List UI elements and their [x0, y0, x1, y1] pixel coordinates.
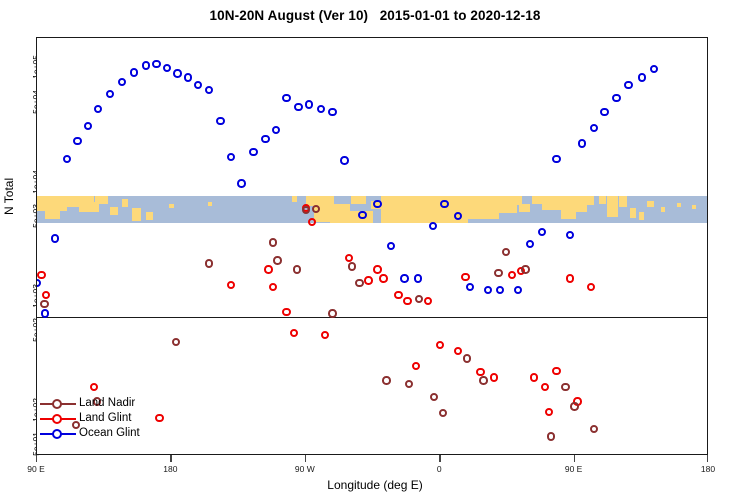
map-landmass [45, 207, 60, 219]
x-tick-mark [305, 455, 306, 462]
data-point-nadir [494, 269, 502, 277]
data-point-ocean [526, 240, 534, 248]
data-point-ocean [94, 105, 102, 113]
map-landmass [519, 204, 530, 212]
data-point-ocean [638, 73, 646, 81]
data-point-ocean [261, 135, 269, 143]
data-point-ocean [41, 309, 49, 317]
map-landmass [692, 205, 696, 209]
map-landmass [132, 208, 141, 220]
legend-marker-ocean [40, 428, 76, 440]
data-point-glint [566, 274, 574, 282]
x-tick-mark [36, 455, 37, 462]
map-landmass [542, 196, 562, 210]
data-point-ocean [237, 179, 245, 187]
data-point-ocean [600, 108, 608, 116]
x-tick-label: 90 E [27, 464, 45, 474]
data-point-ocean [249, 148, 257, 156]
data-point-nadir [561, 383, 569, 391]
data-point-ocean [184, 73, 192, 81]
map-landmass [639, 212, 644, 220]
legend-marker-nadir [40, 398, 76, 410]
map-landmass [146, 212, 153, 220]
data-point-ocean [328, 108, 336, 116]
data-point-ocean [650, 65, 658, 73]
data-point-nadir [348, 262, 356, 270]
map-landmass [110, 207, 118, 215]
data-point-glint [476, 368, 484, 376]
data-point-ocean [51, 234, 59, 242]
data-point-ocean [272, 126, 280, 134]
map-landmass [599, 196, 606, 204]
legend-marker-glint [40, 413, 76, 425]
data-point-nadir [355, 279, 363, 287]
data-point-glint [394, 291, 402, 299]
data-point-nadir [502, 248, 510, 256]
data-point-ocean [466, 283, 474, 291]
map-landmass [95, 196, 108, 204]
map-landmass [351, 196, 366, 204]
y-tick-label: 5e+01 [0, 432, 34, 443]
y-tick-label: 1e+04 [0, 170, 34, 181]
data-point-ocean [130, 68, 138, 76]
data-point-glint [379, 274, 387, 282]
page-title: 10N-20N August (Ver 10) 2015-01-01 to 20… [0, 8, 750, 23]
legend-label: Land Glint [79, 411, 131, 426]
map-landmass [532, 196, 543, 204]
x-tick-label: 90 W [295, 464, 315, 474]
data-point-ocean [84, 122, 92, 130]
y-tick-label: 5e+04 [0, 90, 34, 101]
data-point-ocean [484, 286, 492, 294]
y-tick-label: 5e+02 [0, 318, 34, 329]
data-point-glint [424, 297, 432, 305]
y-tick-label: 1e+02 [0, 398, 34, 409]
legend-item-ocean[interactable]: Ocean Glint [40, 426, 140, 441]
legend: Land NadirLand GlintOcean Glint [40, 396, 140, 441]
map-landmass [122, 199, 128, 207]
chart-root: 10N-20N August (Ver 10) 2015-01-01 to 20… [0, 0, 750, 500]
data-point-ocean [566, 231, 574, 239]
data-point-nadir [430, 393, 438, 401]
data-point-glint [373, 265, 381, 273]
legend-item-glint[interactable]: Land Glint [40, 411, 140, 426]
data-point-ocean [282, 94, 290, 102]
data-point-nadir [172, 338, 180, 346]
data-point-ocean [358, 211, 366, 219]
data-point-nadir [590, 425, 598, 433]
data-point-glint [37, 271, 45, 279]
data-point-ocean [163, 64, 171, 72]
data-point-ocean [340, 156, 348, 164]
data-point-nadir [269, 238, 277, 246]
data-point-ocean [152, 60, 160, 68]
map-inset-band [37, 196, 707, 223]
data-point-glint [541, 383, 549, 391]
data-point-ocean [73, 137, 81, 145]
data-point-nadir [328, 309, 336, 317]
data-point-glint [508, 271, 516, 279]
x-tick-mark [707, 455, 708, 462]
data-point-nadir [547, 432, 555, 440]
data-point-glint [587, 283, 595, 291]
data-point-glint [227, 281, 235, 289]
y-tick-label: 1e+05 [0, 55, 34, 66]
data-point-nadir [439, 409, 447, 417]
data-point-glint [454, 347, 462, 355]
x-tick-label: 0 [437, 464, 442, 474]
data-point-glint [321, 331, 329, 339]
data-point-ocean [173, 69, 181, 77]
data-point-ocean [227, 153, 235, 161]
data-point-glint [308, 218, 316, 226]
data-point-ocean [36, 279, 41, 287]
data-point-glint [264, 265, 272, 273]
data-point-nadir [570, 402, 578, 410]
x-tick-mark [170, 455, 171, 462]
data-point-ocean [578, 139, 586, 147]
data-point-ocean [538, 228, 546, 236]
map-landmass [661, 207, 665, 212]
data-point-ocean [142, 61, 150, 69]
data-point-ocean [216, 117, 224, 125]
data-point-nadir [205, 259, 213, 267]
data-point-glint [345, 254, 353, 262]
legend-label: Land Nadir [79, 396, 135, 411]
data-point-ocean [612, 94, 620, 102]
data-point-nadir [415, 295, 423, 303]
map-landmass [630, 208, 636, 218]
data-point-ocean [118, 78, 126, 86]
data-point-glint [461, 273, 469, 281]
legend-item-nadir[interactable]: Land Nadir [40, 396, 140, 411]
data-point-ocean [194, 81, 202, 89]
data-point-glint [412, 362, 420, 370]
x-tick-label: 180 [163, 464, 177, 474]
x-tick-label: 180 [701, 464, 715, 474]
map-landmass [619, 196, 627, 207]
data-point-glint [269, 283, 277, 291]
data-point-ocean [400, 274, 408, 282]
x-axis-title: Longitude (deg E) [0, 478, 750, 492]
data-point-ocean [317, 105, 325, 113]
data-point-ocean [305, 100, 313, 108]
data-point-glint [282, 308, 290, 316]
data-point-ocean [414, 274, 422, 282]
data-point-glint [155, 414, 163, 422]
data-point-ocean [590, 124, 598, 132]
legend-label: Ocean Glint [79, 426, 140, 441]
map-landmass [585, 196, 594, 205]
data-point-ocean [205, 86, 213, 94]
data-point-nadir [521, 265, 529, 273]
map-landmass [208, 202, 212, 206]
data-point-ocean [496, 286, 504, 294]
data-point-nadir [382, 376, 390, 384]
map-landmass [677, 203, 682, 207]
data-point-nadir [405, 380, 413, 388]
data-point-glint [545, 408, 553, 416]
data-point-nadir [463, 354, 471, 362]
x-tick-label: 90 E [565, 464, 583, 474]
data-point-ocean [373, 200, 381, 208]
data-point-nadir [293, 265, 301, 273]
map-landmass [607, 196, 618, 217]
data-point-glint [490, 373, 498, 381]
map-landmass [468, 196, 498, 219]
data-point-ocean [106, 90, 114, 98]
data-point-ocean [387, 242, 395, 250]
data-point-glint [530, 373, 538, 381]
data-point-nadir [479, 376, 487, 384]
panel-divider [37, 317, 707, 318]
data-point-ocean [63, 155, 71, 163]
data-point-ocean [624, 81, 632, 89]
data-point-nadir [273, 256, 281, 264]
x-tick-mark [439, 455, 440, 462]
data-point-glint [42, 291, 50, 299]
data-point-glint [436, 341, 444, 349]
data-point-ocean [514, 286, 522, 294]
y-tick-label: 1e+03 [0, 284, 34, 295]
map-landmass [647, 201, 654, 207]
data-point-ocean [294, 103, 302, 111]
y-tick-label: 5e+03 [0, 204, 34, 215]
x-tick-mark [574, 455, 575, 462]
data-point-glint [552, 367, 560, 375]
data-point-glint [364, 276, 372, 284]
map-landmass [169, 204, 174, 208]
data-point-nadir [40, 300, 48, 308]
data-point-glint [290, 329, 298, 337]
data-point-glint [90, 383, 98, 391]
data-point-glint [403, 297, 411, 305]
data-point-ocean [429, 222, 437, 230]
data-point-nadir [302, 206, 310, 214]
plot-area [36, 37, 708, 455]
map-landmass [292, 196, 297, 202]
data-point-ocean [552, 155, 560, 163]
